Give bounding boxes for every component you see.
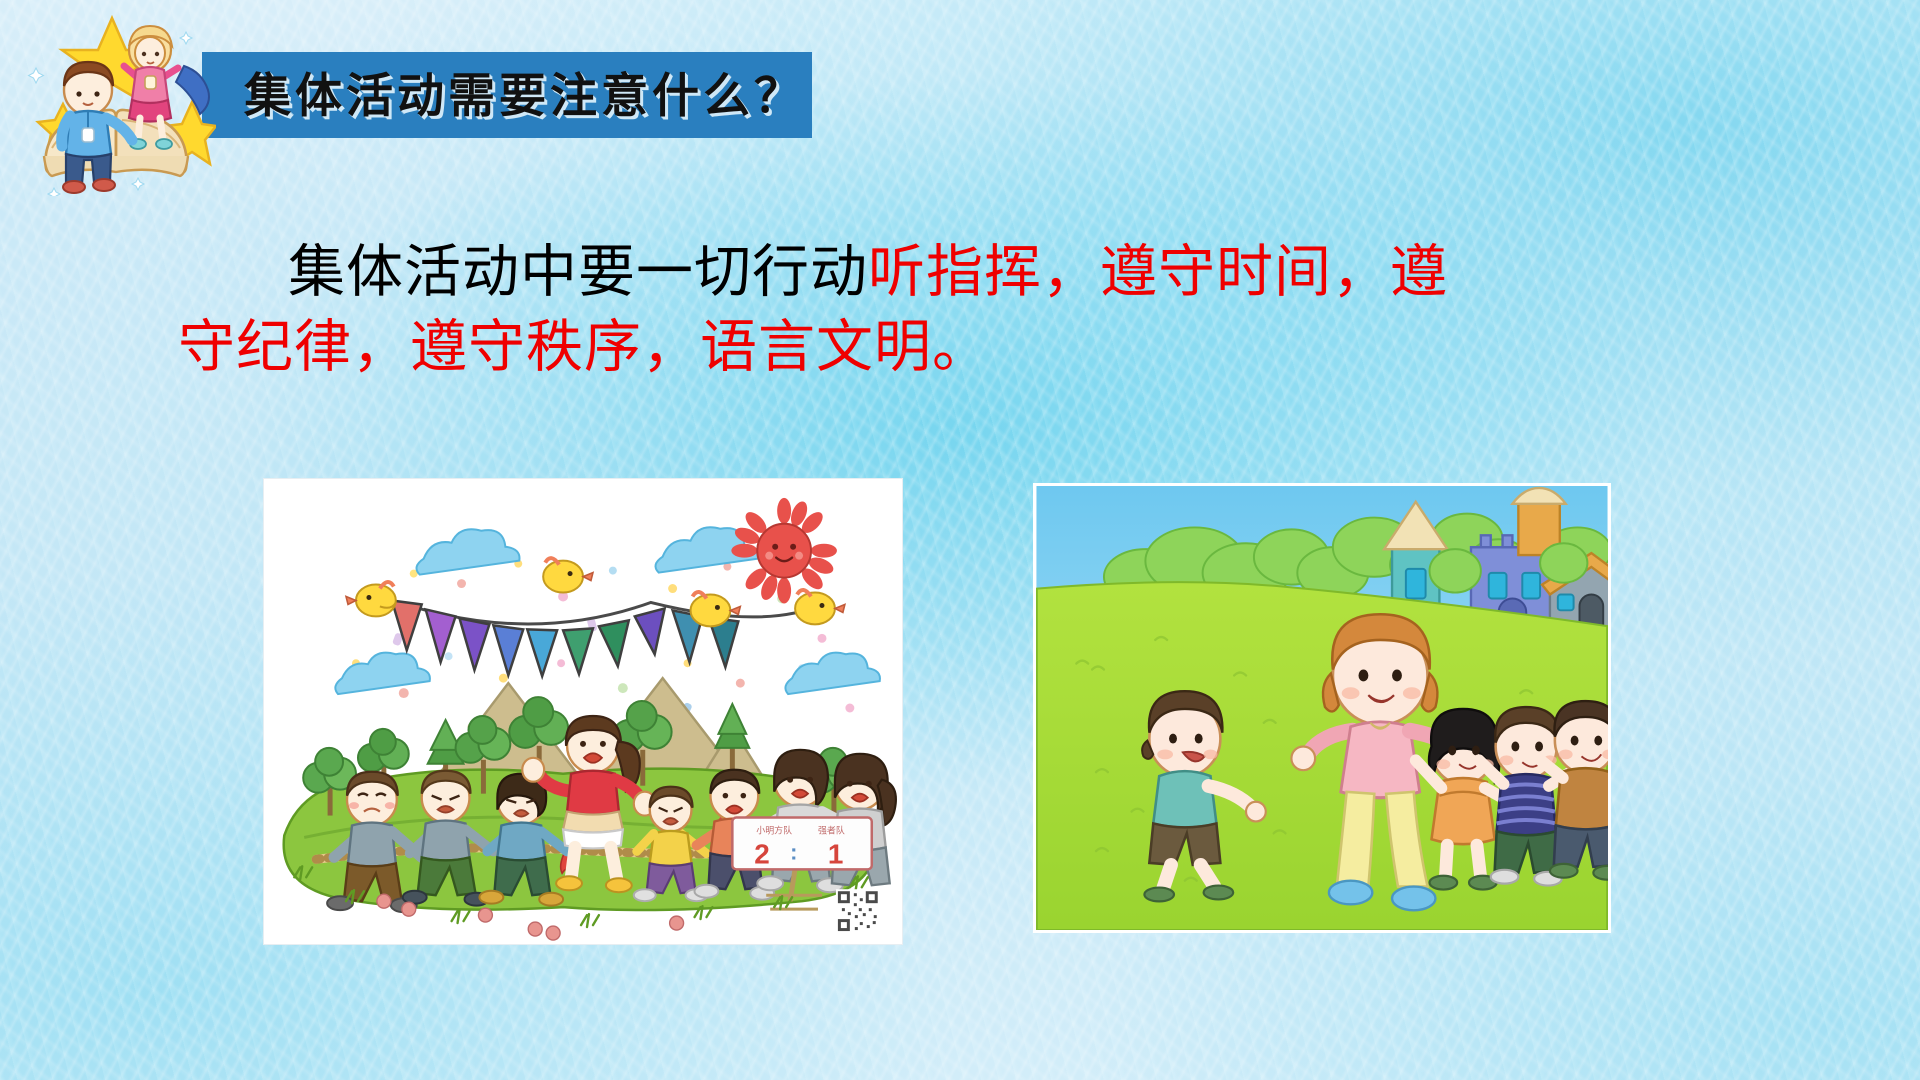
title-bar: 集体活动需要注意什么？: [202, 52, 812, 138]
svg-text:强者队: 强者队: [818, 824, 845, 835]
body-line1-red: 听指挥，遵守时间，遵: [868, 240, 1448, 304]
kids-on-book-decoration-icon: [16, 6, 216, 196]
svg-text::: :: [790, 839, 797, 864]
body-line1-black: 集体活动中要一切行动: [288, 240, 868, 304]
tug-of-war-illustration: 小明方队 强者队 2 : 1: [263, 478, 903, 945]
teacher-leading-children-illustration: [1033, 483, 1611, 933]
svg-text:2: 2: [754, 838, 770, 869]
page-title: 集体活动需要注意什么？: [244, 72, 805, 119]
svg-text:小明方队: 小明方队: [756, 824, 792, 835]
body-paragraph: 集体活动中要一切行动听指挥，遵守时间，遵 守纪律，遵守秩序，语言文明。: [178, 235, 1778, 385]
svg-text:1: 1: [828, 838, 844, 869]
body-line2-red: 守纪律，遵守秩序，语言文明。: [178, 315, 990, 379]
slide-canvas: 集体活动需要注意什么？ 集体活动中要一切行动听指挥，遵守时间，遵 守纪律，遵守秩…: [0, 0, 1920, 1080]
